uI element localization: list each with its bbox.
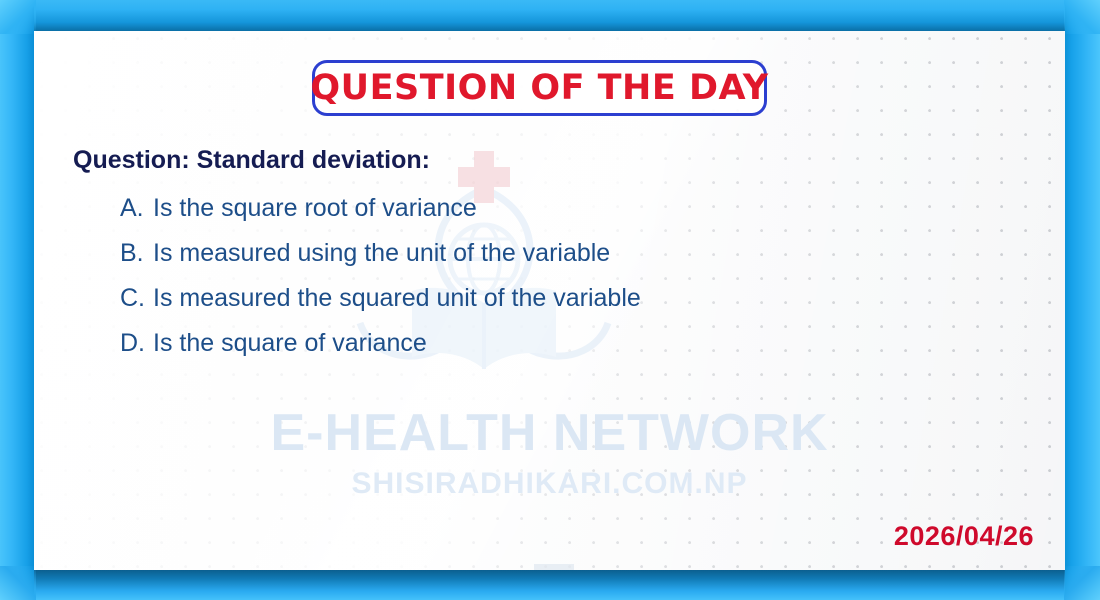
answer-options-list: A. Is the square root of variance B. Is … — [120, 194, 1020, 374]
title-box: QUESTION OF THE DAY — [312, 60, 767, 116]
question-prompt: Question: Standard deviation: — [73, 146, 430, 175]
frame-corner-top-left — [0, 0, 36, 34]
frame-corner-bottom-right — [1064, 566, 1100, 600]
frame-edge-top — [0, 0, 1100, 31]
watermark-brand: E-HEALTH NETWORK — [34, 403, 1065, 463]
answer-option-d[interactable]: D. Is the square of variance — [120, 329, 1020, 374]
page-title: QUESTION OF THE DAY — [310, 68, 768, 108]
frame-corner-bottom-left — [0, 566, 36, 600]
option-letter-c: C. — [120, 284, 148, 313]
slide-frame: E-HEALTH NETWORK SHISIRADHIKARI.COM.NP Q… — [0, 0, 1100, 600]
option-text-d: Is the square of variance — [153, 329, 427, 358]
frame-edge-left — [0, 0, 34, 600]
option-letter-a: A. — [120, 194, 148, 223]
option-text-b: Is measured using the unit of the variab… — [153, 239, 610, 268]
option-text-a: Is the square root of variance — [153, 194, 477, 223]
date-stamp: 2026/04/26 — [894, 521, 1034, 552]
option-text-c: Is measured the squared unit of the vari… — [153, 284, 641, 313]
answer-option-c[interactable]: C. Is measured the squared unit of the v… — [120, 284, 1020, 329]
option-letter-b: B. — [120, 239, 148, 268]
frame-edge-right — [1065, 0, 1100, 600]
frame-edge-bottom — [0, 570, 1100, 600]
bottom-edge-marker — [534, 564, 574, 570]
answer-option-b[interactable]: B. Is measured using the unit of the var… — [120, 239, 1020, 284]
slide-canvas: E-HEALTH NETWORK SHISIRADHIKARI.COM.NP Q… — [34, 31, 1065, 570]
watermark-site: SHISIRADHIKARI.COM.NP — [34, 467, 1065, 501]
answer-option-a[interactable]: A. Is the square root of variance — [120, 194, 1020, 239]
option-letter-d: D. — [120, 329, 148, 358]
frame-corner-top-right — [1064, 0, 1100, 34]
